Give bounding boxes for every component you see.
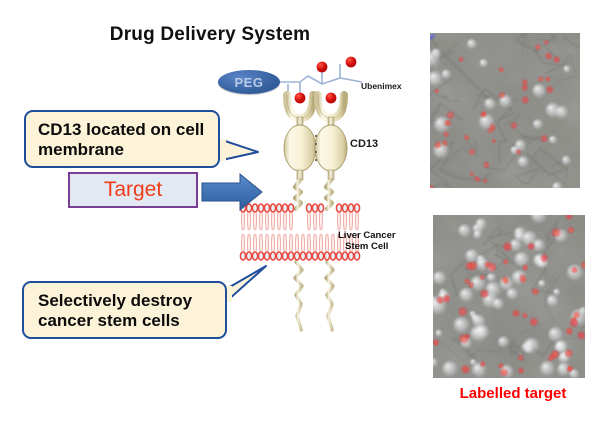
lcsc-line-1: Liver Cancer bbox=[338, 230, 396, 241]
lcsc-line-2: Stem Cell bbox=[338, 241, 396, 252]
micrograph-panel-bottom bbox=[433, 215, 585, 378]
liver-cancer-stem-cell-label: Liver Cancer Stem Cell bbox=[338, 230, 396, 253]
micrograph-panel-top bbox=[430, 33, 580, 188]
callout-cd13-location: CD13 located on cell membrane bbox=[24, 110, 220, 168]
ubenimex-label: Ubenimex bbox=[361, 81, 402, 91]
cd13-receptor-label: CD13 bbox=[350, 138, 378, 150]
target-box: Target bbox=[68, 172, 198, 208]
micrograph-top-canvas bbox=[430, 33, 580, 188]
callout-tail-top bbox=[216, 139, 258, 161]
micrograph-bottom-canvas bbox=[433, 215, 585, 378]
diagram-canvas: Drug Delivery System bbox=[0, 0, 600, 425]
micrograph-caption: Labelled target bbox=[433, 385, 593, 402]
peg-label: PEG bbox=[218, 70, 280, 94]
callout-tail-bottom bbox=[222, 266, 266, 302]
callout-selective-destruction: Selectively destroy cancer stem cells bbox=[22, 281, 227, 339]
